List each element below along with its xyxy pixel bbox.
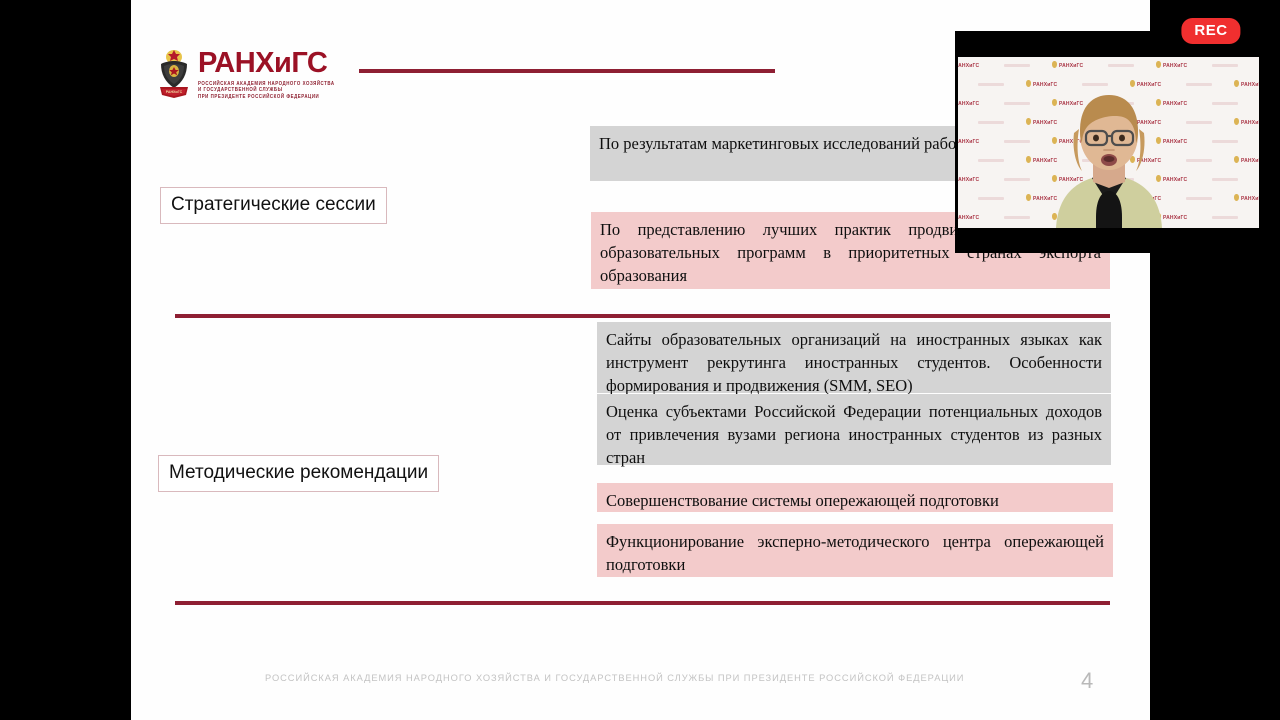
backdrop-logo: РАНХиГС: [1156, 61, 1187, 69]
backdrop-divider: [1186, 197, 1212, 200]
header-rule: [359, 69, 775, 73]
logo-subtitle-lines: РОССИЙСКАЯ АКАДЕМИЯ НАРОДНОГО ХОЗЯЙСТВА …: [198, 80, 335, 99]
logo-main-text: РАНХиГС: [198, 49, 335, 78]
section-divider-bottom: [175, 601, 1110, 605]
backdrop-divider: [1212, 64, 1238, 67]
logo-subtitle-line-3: ПРИ ПРЕЗИДЕНТЕ РОССИЙСКОЙ ФЕДЕРАЦИИ: [198, 93, 335, 101]
backdrop-divider: [1004, 140, 1030, 143]
rec-indicator-badge: REC: [1181, 18, 1240, 44]
backdrop-divider: [1004, 178, 1030, 181]
backdrop-divider: [1212, 178, 1238, 181]
backdrop-divider: [1004, 64, 1030, 67]
backdrop-divider: [1212, 216, 1238, 219]
svg-text:РАНХиГС: РАНХиГС: [166, 90, 183, 94]
backdrop-divider: [1212, 102, 1238, 105]
content-block-expert-center: Функционирование эксперно-методического …: [597, 524, 1113, 577]
backdrop-divider: [1004, 216, 1030, 219]
category-label-strategic-sessions: Стратегические сессии: [160, 187, 387, 224]
backdrop-logo: РАНХиГС: [958, 137, 979, 145]
backdrop-divider: [1004, 102, 1030, 105]
backdrop-logo: РАНХиГС: [958, 175, 979, 183]
backdrop-divider: [1186, 159, 1212, 162]
logo-wordmark: РАНХиГС РОССИЙСКАЯ АКАДЕМИЯ НАРОДНОГО ХО…: [198, 49, 335, 99]
backdrop-divider: [978, 121, 1004, 124]
backdrop-divider: [1186, 121, 1212, 124]
backdrop-logo: РАНХиГС: [1234, 80, 1259, 88]
backdrop-divider: [1186, 83, 1212, 86]
content-block-potential-income: Оценка субъектами Российской Федерации п…: [597, 394, 1111, 465]
backdrop-divider: [978, 197, 1004, 200]
webcam-video-overlay[interactable]: РАНХиГСРАНХиГСРАНХиГСРАНХиГСРАНХиГСРАНХи…: [955, 31, 1265, 253]
backdrop-divider: [978, 83, 1004, 86]
backdrop-logo: РАНХиГС: [958, 61, 979, 69]
backdrop-divider: [978, 159, 1004, 162]
backdrop-divider: [1082, 83, 1108, 86]
category-label-methodical-recommendations: Методические рекомендации: [158, 455, 439, 492]
coat-of-arms-icon: РАНХиГС: [157, 48, 191, 100]
speaker-avatar: [1046, 87, 1172, 228]
backdrop-logo: РАНХиГС: [1234, 118, 1259, 126]
backdrop-logo: РАНХиГС: [1234, 156, 1259, 164]
section-divider-top: [175, 314, 1110, 318]
ranepa-logo: РАНХиГС РАНХиГС РОССИЙСКАЯ АКАДЕМИЯ НАРО…: [157, 48, 335, 100]
backdrop-logo: РАНХиГС: [1234, 194, 1259, 202]
backdrop-logo: РАНХиГС: [958, 213, 979, 221]
content-block-advanced-training-improvement: Совершенствование системы опережающей по…: [597, 483, 1113, 512]
backdrop-logo: РАНХиГС: [958, 99, 979, 107]
footer-organization-name: РОССИЙСКАЯ АКАДЕМИЯ НАРОДНОГО ХОЗЯЙСТВА …: [265, 673, 964, 683]
backdrop-divider: [1108, 64, 1134, 67]
page-number: 4: [1081, 668, 1093, 694]
backdrop-divider: [1212, 140, 1238, 143]
backdrop-logo: РАНХиГС: [1052, 61, 1083, 69]
content-block-websites-recruiting: Сайты образовательных организаций на ино…: [597, 322, 1111, 393]
webcam-frame: РАНХиГСРАНХиГСРАНХиГСРАНХиГСРАНХиГСРАНХи…: [958, 57, 1259, 228]
